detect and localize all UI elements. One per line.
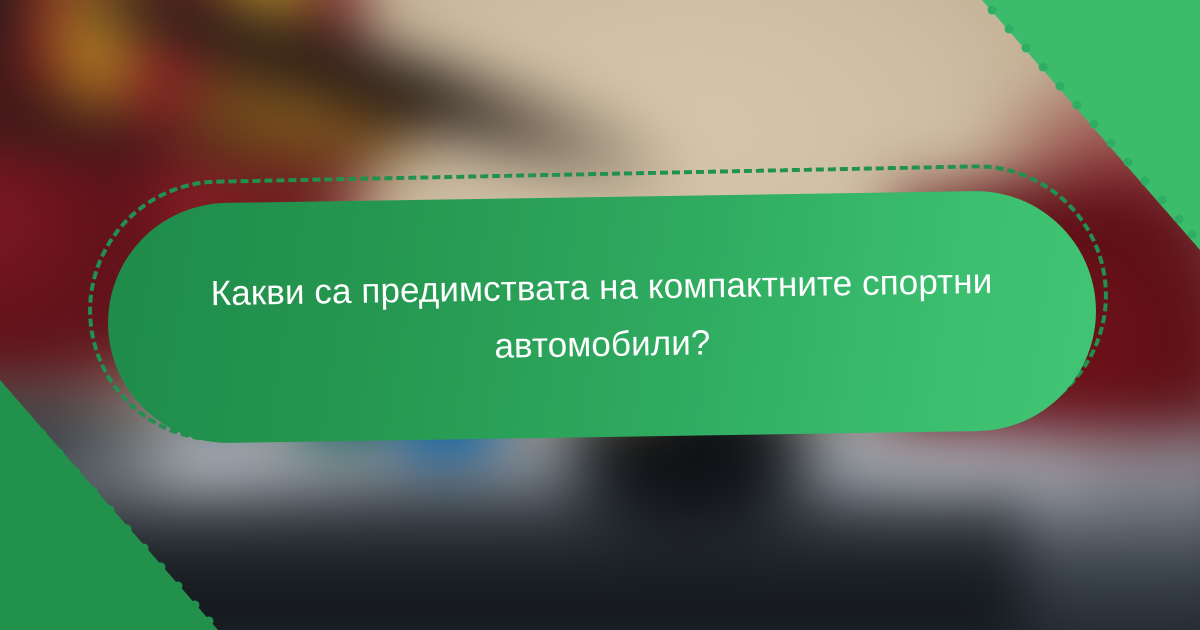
question-card: Какви са предимствата на компактните спо… [106,189,1098,444]
background-dark-corner-left [0,0,28,77]
card-question-title: Какви са предимствата на компактните спо… [193,254,1011,380]
social-card-canvas: Какви са предимствата на компактните спо… [0,0,1200,630]
